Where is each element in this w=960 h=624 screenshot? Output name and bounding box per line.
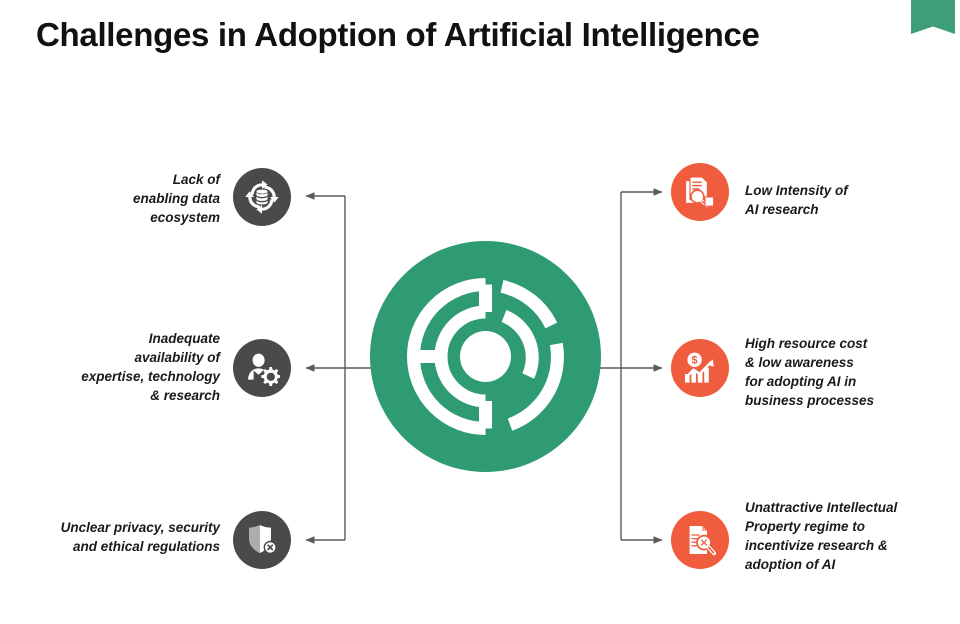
right-label-2-line-2: & low awareness: [745, 353, 955, 372]
left-label-2-line-3: expertise, technology: [30, 367, 220, 386]
person-gear-icon: [244, 350, 280, 386]
right-label-2-line-1: High resource cost: [745, 334, 955, 353]
left-label-2-line-2: availability of: [30, 348, 220, 367]
left-label-3: Unclear privacy, security and ethical re…: [20, 518, 220, 556]
left-label-2-line-4: & research: [30, 386, 220, 405]
left-label-3-line-1: Unclear privacy, security: [20, 518, 220, 537]
shield-cross-icon: [245, 523, 279, 557]
right-label-2-line-3: for adopting AI in: [745, 372, 955, 391]
right-label-3-line-2: Property regime to: [745, 517, 960, 536]
left-node-1[interactable]: [233, 168, 291, 226]
document-magnifier-icon: [683, 523, 717, 557]
right-label-2-line-4: business processes: [745, 391, 955, 410]
right-node-3[interactable]: [671, 511, 729, 569]
right-label-3: Unattractive Intellectual Property regim…: [745, 498, 960, 575]
right-label-1: Low Intensity of AI research: [745, 181, 945, 219]
right-label-1-line-1: Low Intensity of: [745, 181, 945, 200]
maze-target-icon: [370, 241, 601, 472]
left-node-3[interactable]: [233, 511, 291, 569]
center-maze-graphic: [370, 241, 601, 472]
right-label-3-line-3: incentivize research &: [745, 536, 960, 555]
left-label-2-line-1: Inadequate: [30, 329, 220, 348]
left-label-2: Inadequate availability of expertise, te…: [30, 329, 220, 406]
left-label-1-line-2: enabling data: [40, 189, 220, 208]
left-label-1-line-1: Lack of: [40, 170, 220, 189]
right-label-3-line-4: adoption of AI: [745, 555, 960, 574]
left-node-2[interactable]: [233, 339, 291, 397]
right-label-1-line-2: AI research: [745, 200, 945, 219]
right-label-3-line-1: Unattractive Intellectual: [745, 498, 960, 517]
left-label-3-line-2: and ethical regulations: [20, 537, 220, 556]
data-sync-icon: [244, 179, 280, 215]
left-label-1-line-3: ecosystem: [40, 208, 220, 227]
page-title: Challenges in Adoption of Artificial Int…: [36, 17, 916, 53]
slide-canvas: Challenges in Adoption of Artificial Int…: [0, 0, 960, 624]
right-label-2: High resource cost & low awareness for a…: [745, 334, 955, 411]
svg-text:$: $: [692, 355, 698, 367]
right-node-2[interactable]: $: [671, 339, 729, 397]
growth-chart-dollar-icon: $: [683, 351, 717, 385]
documents-search-icon: [683, 175, 717, 209]
right-node-1[interactable]: [671, 163, 729, 221]
bookmark-ribbon-icon: [911, 0, 955, 34]
left-label-1: Lack of enabling data ecosystem: [40, 170, 220, 227]
